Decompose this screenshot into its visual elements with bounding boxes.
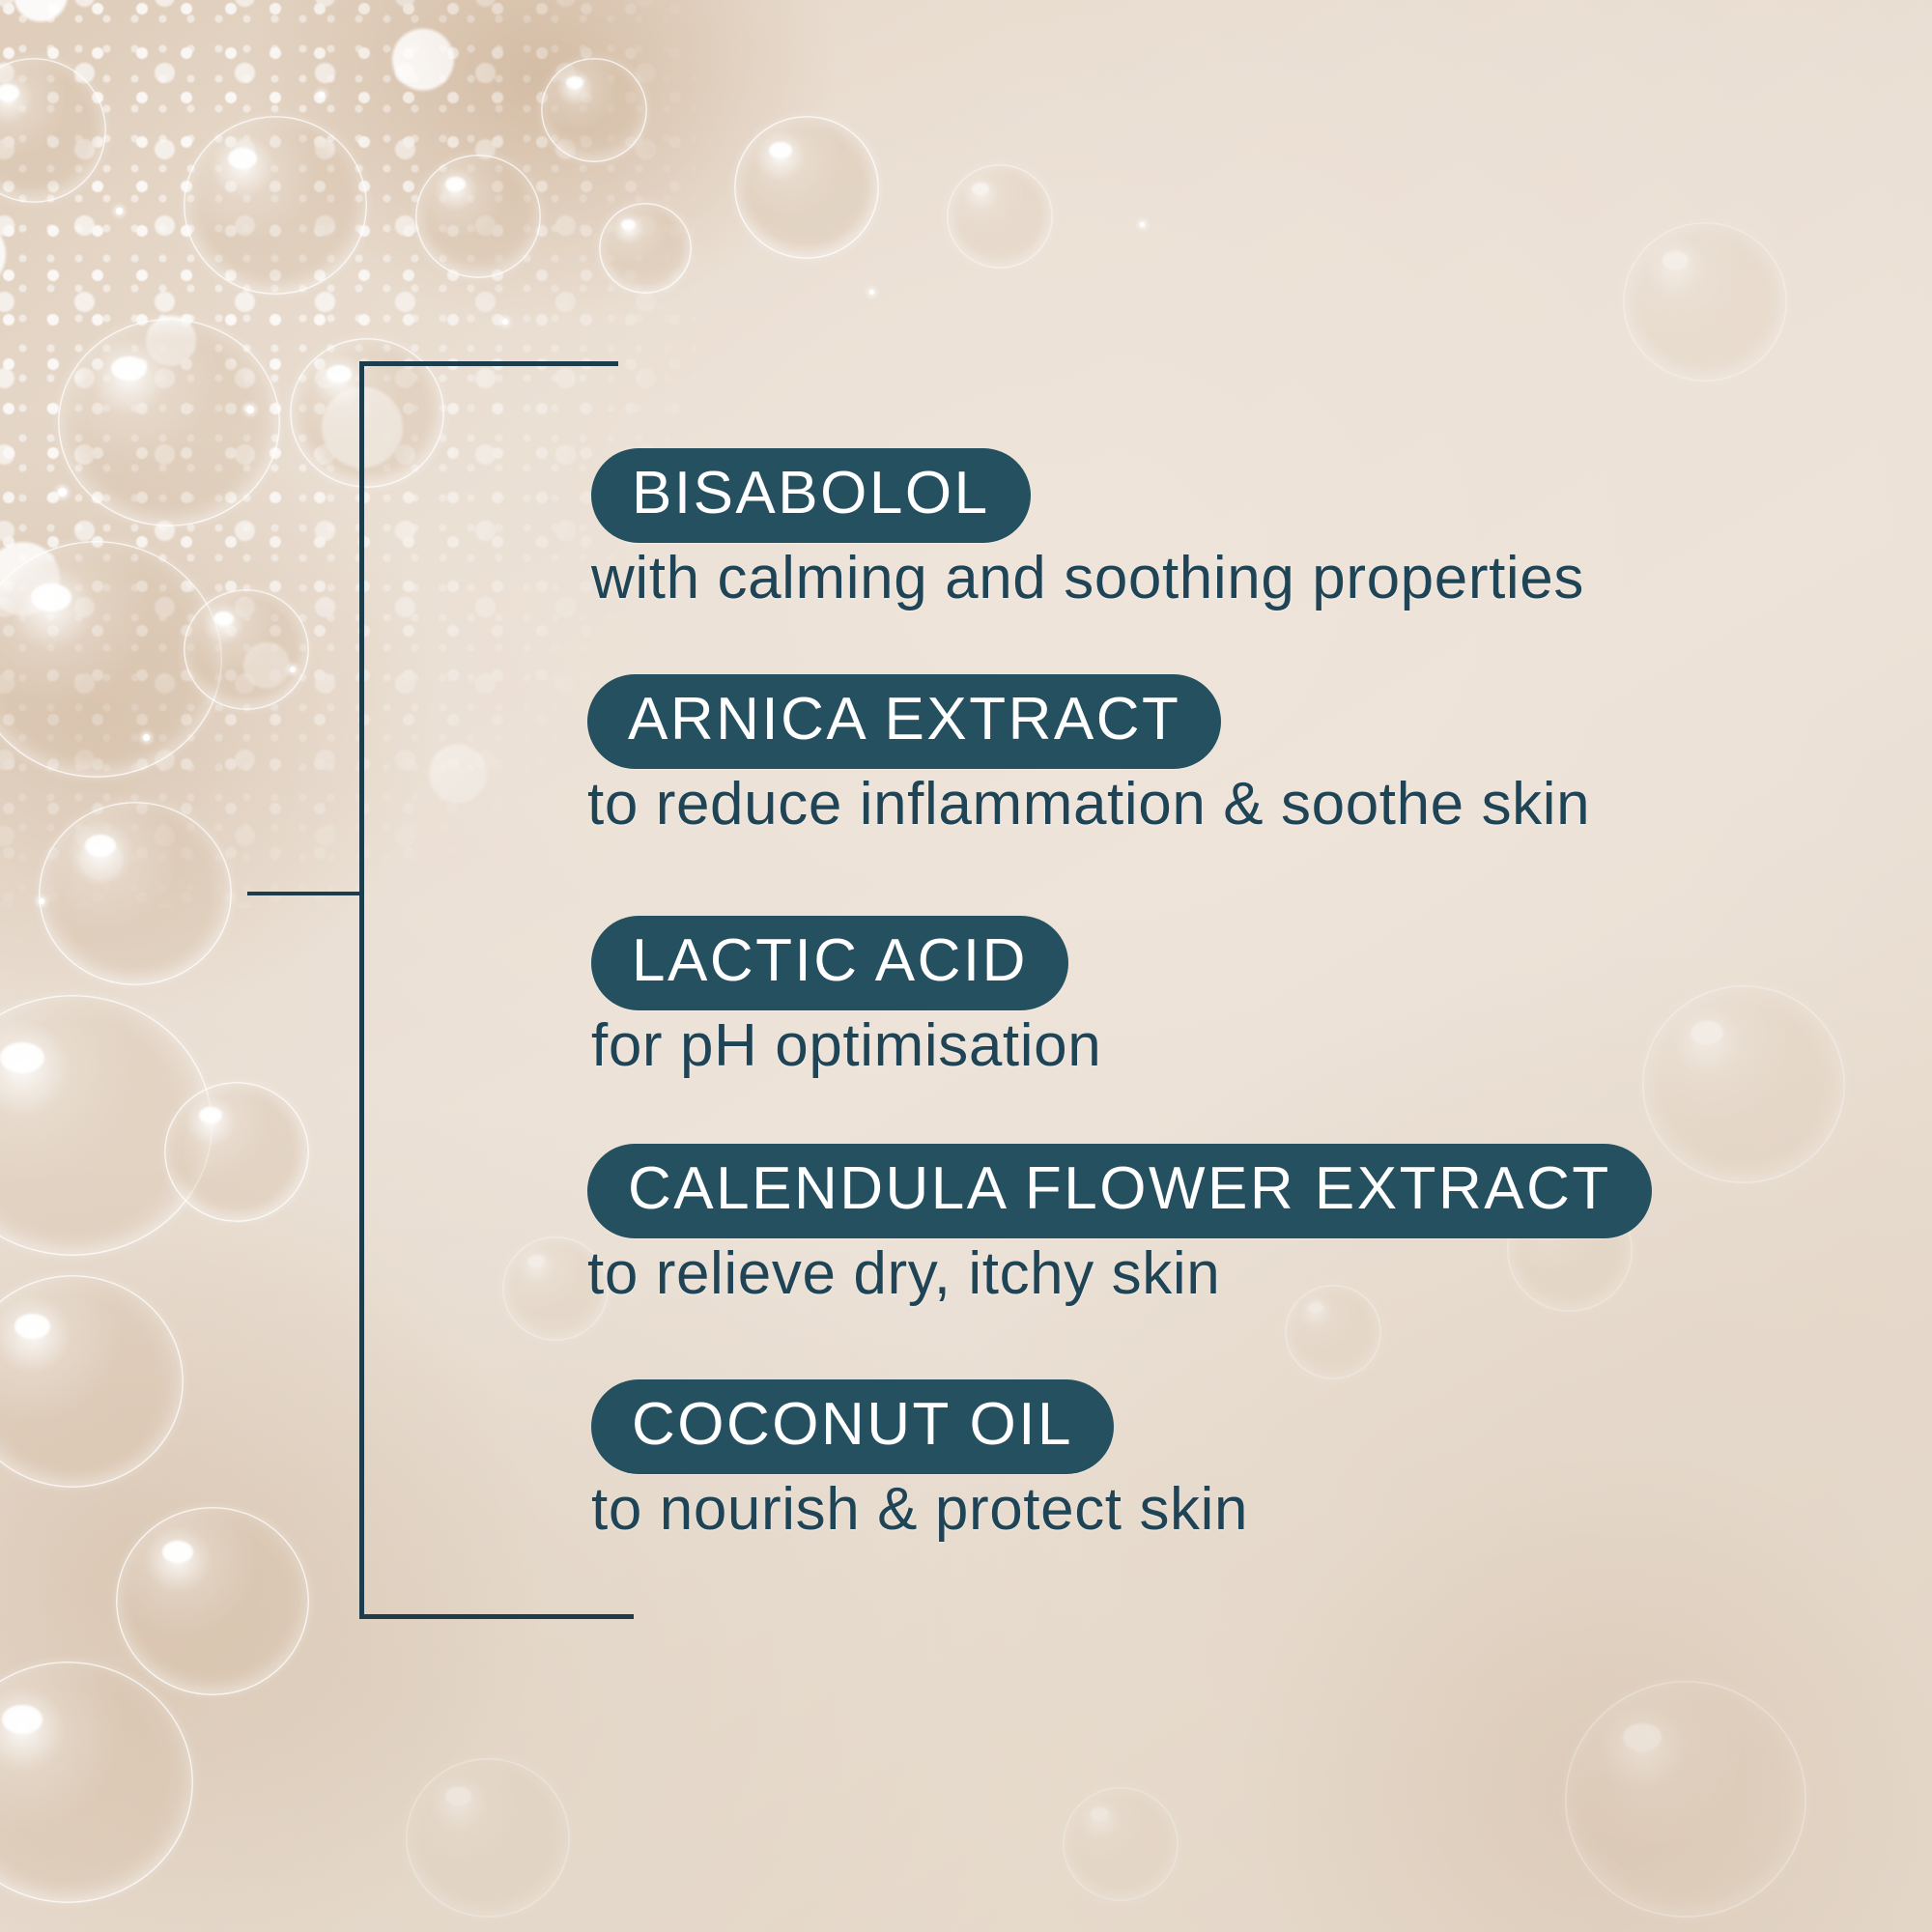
ingredient-name-pill[interactable]: BISABOLOL [591,448,1031,543]
ingredient-entry-coconut-oil: COCONUT OIL to nourish & protect skin [591,1379,1248,1543]
ingredient-entry-lactic-acid: LACTIC ACID for pH optimisation [591,916,1101,1079]
ingredient-entry-bisabolol: BISABOLOL with calming and soothing prop… [591,448,1584,611]
ingredient-name-pill[interactable]: ARNICA EXTRACT [587,674,1221,769]
ingredient-benefit-text: to relieve dry, itchy skin [587,1242,1652,1307]
ingredient-name-pill[interactable]: COCONUT OIL [591,1379,1114,1474]
infographic-canvas: BISABOLOL with calming and soothing prop… [0,0,1932,1932]
ingredient-benefit-text: for pH optimisation [591,1014,1101,1079]
ingredient-benefit-text: with calming and soothing properties [591,547,1584,611]
ingredient-name-pill[interactable]: CALENDULA FLOWER EXTRACT [587,1144,1652,1238]
ingredient-benefit-text: to reduce inflammation & soothe skin [587,773,1590,838]
ingredient-benefit-text: to nourish & protect skin [591,1478,1248,1543]
ingredient-entry-calendula-flower-extract: CALENDULA FLOWER EXTRACT to relieve dry,… [587,1144,1652,1307]
ingredient-list: BISABOLOL with calming and soothing prop… [0,0,1932,1932]
ingredient-entry-arnica-extract: ARNICA EXTRACT to reduce inflammation & … [587,674,1590,838]
ingredient-name-pill[interactable]: LACTIC ACID [591,916,1068,1010]
